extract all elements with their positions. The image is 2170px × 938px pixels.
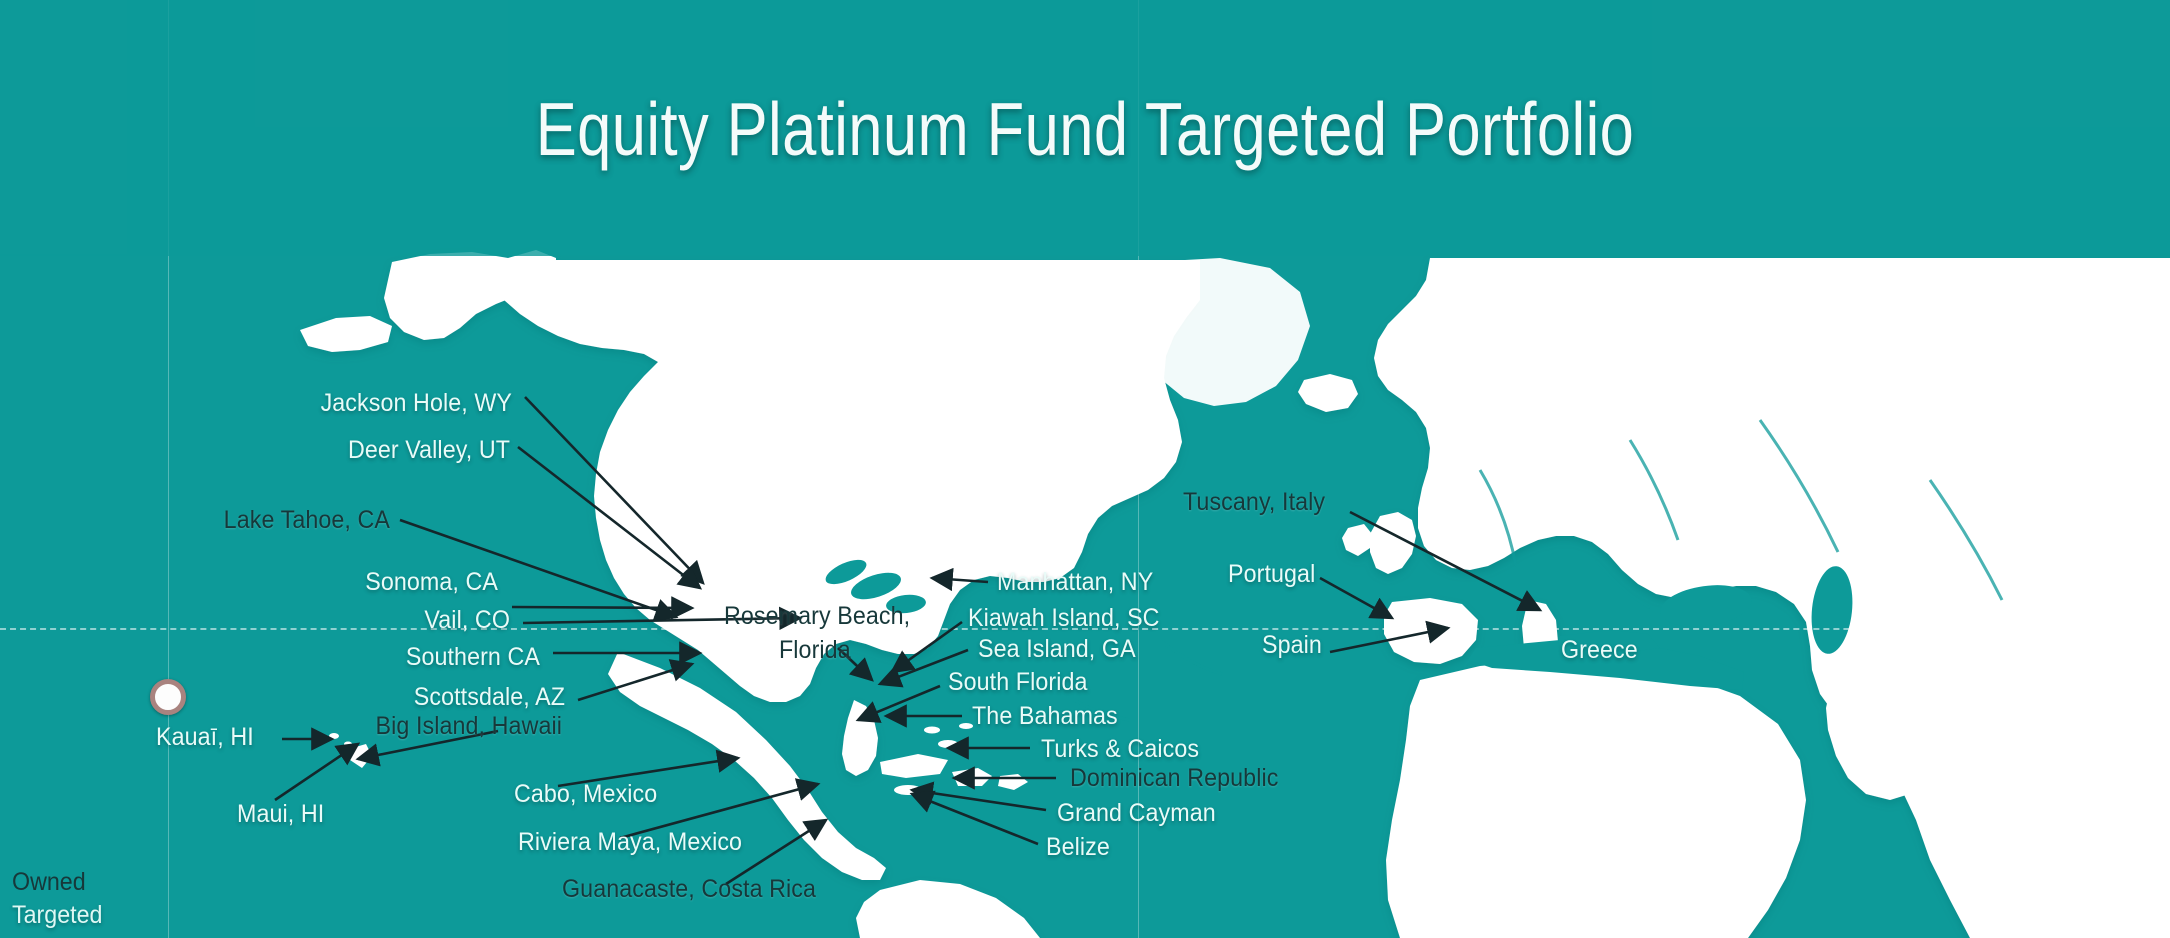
- location-label: Vail, CO: [36, 606, 510, 634]
- location-label: Big Island, Hawaii: [39, 712, 562, 740]
- page-title: Equity Platinum Fund Targeted Portfolio: [195, 86, 1974, 172]
- location-label: Grand Cayman: [1057, 799, 1216, 827]
- location-label: Riviera Maya, Mexico: [518, 828, 742, 856]
- location-label: Dominican Republic: [1070, 764, 1278, 792]
- legend-owned-label: Owned: [12, 866, 102, 899]
- location-label: Rosemary Beach,: [724, 602, 910, 630]
- location-label: Florida: [779, 636, 851, 664]
- location-label: Manhattan, NY: [997, 568, 1153, 596]
- location-label: Lake Tahoe, CA: [27, 506, 390, 534]
- location-label: The Bahamas: [972, 702, 1118, 730]
- location-label: Tuscany, Italy: [1183, 488, 1325, 516]
- location-label: Belize: [1046, 833, 1110, 861]
- location-label: Kiawah Island, SC: [968, 604, 1160, 632]
- location-label: Sea Island, GA: [978, 635, 1136, 663]
- location-label: Maui, HI: [237, 800, 324, 828]
- location-label: Portugal: [1228, 560, 1315, 588]
- location-label: Spain: [1262, 631, 1322, 659]
- legend: Owned Targeted: [12, 866, 109, 932]
- location-label: South Florida: [948, 668, 1088, 696]
- location-label: Turks & Caicos: [1041, 735, 1199, 763]
- slide-canvas: Equity Platinum Fund Targeted Portfolio …: [0, 0, 2170, 938]
- location-label: Kauaī, HI: [156, 723, 254, 751]
- location-label: Greece: [1561, 636, 1638, 664]
- location-label: Southern CA: [38, 643, 540, 671]
- location-label: Cabo, Mexico: [514, 780, 657, 808]
- legend-targeted-label: Targeted: [12, 899, 102, 932]
- location-label: Jackson Hole, WY: [36, 389, 512, 417]
- location-label: Deer Valley, UT: [36, 436, 510, 464]
- location-label: Scottsdale, AZ: [40, 683, 565, 711]
- location-label: Sonoma, CA: [35, 568, 498, 596]
- location-label: Guanacaste, Costa Rica: [562, 875, 816, 903]
